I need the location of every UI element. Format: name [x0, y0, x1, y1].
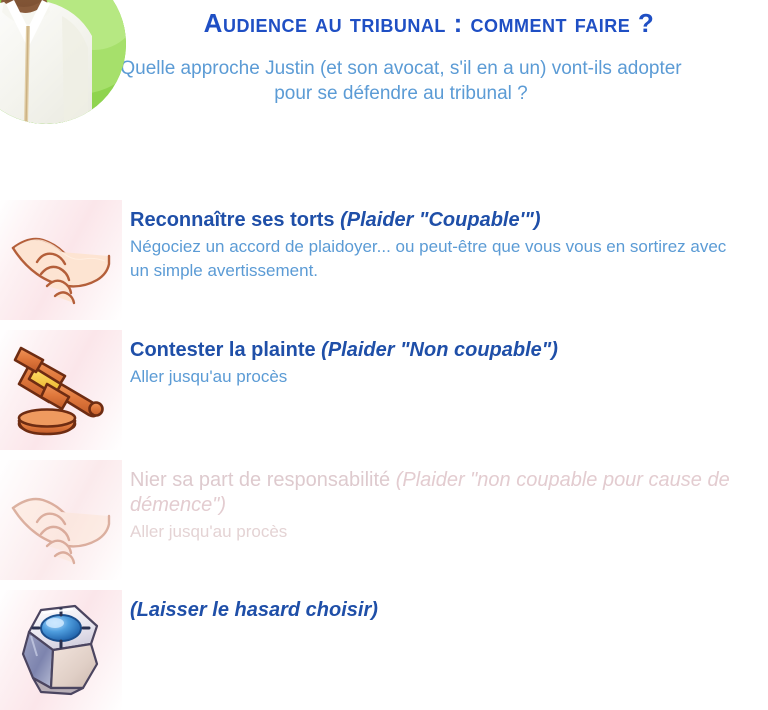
- option-heading: (Laisser le hasard choisir): [130, 598, 768, 623]
- option-row-plead-not-guilty[interactable]: Contester la plainte (Plaider "Non coupa…: [0, 330, 768, 450]
- option-row-random-choice[interactable]: (Laisser le hasard choisir): [0, 590, 768, 710]
- option-thumbnail: [0, 330, 122, 450]
- option-heading: Nier sa part de responsabilité (Plaider …: [130, 468, 768, 518]
- option-heading-paren: (Laisser le hasard choisir): [130, 599, 378, 621]
- option-description: Négociez un accord de plaidoyer... ou pe…: [130, 235, 730, 283]
- option-text-block: (Laisser le hasard choisir): [122, 590, 768, 625]
- gavel-icon: [9, 340, 113, 440]
- option-text-block: Reconnaître ses torts (Plaider "Coupable…: [122, 200, 768, 283]
- option-text-block: Contester la plainte (Plaider "Non coupa…: [122, 330, 768, 389]
- option-heading-paren: (Plaider "Non coupable"): [321, 339, 558, 361]
- option-text-block: Nier sa part de responsabilité (Plaider …: [122, 460, 768, 544]
- option-heading-main: Contester la plainte: [130, 339, 321, 361]
- dice-icon: [11, 600, 111, 700]
- option-thumbnail: [0, 200, 122, 320]
- handshake-icon: [7, 212, 115, 308]
- dialog-header: Audience au tribunal : comment faire ? Q…: [0, 0, 768, 196]
- option-description: Aller jusqu'au procès: [130, 520, 730, 544]
- option-heading-main: Nier sa part de responsabilité: [130, 469, 396, 491]
- option-thumbnail: [0, 590, 122, 710]
- option-row-plead-guilty[interactable]: Reconnaître ses torts (Plaider "Coupable…: [0, 200, 768, 320]
- option-heading-paren: (Plaider "Coupable'"): [340, 209, 540, 231]
- option-heading: Reconnaître ses torts (Plaider "Coupable…: [130, 208, 768, 233]
- option-description: Aller jusqu'au procès: [130, 365, 730, 389]
- option-list: Reconnaître ses torts (Plaider "Coupable…: [0, 200, 768, 710]
- handshake-icon: [7, 472, 115, 568]
- option-heading-main: Reconnaître ses torts: [130, 209, 340, 231]
- option-heading: Contester la plainte (Plaider "Non coupa…: [130, 338, 768, 363]
- option-row-insanity-plea: Nier sa part de responsabilité (Plaider …: [0, 460, 768, 580]
- option-thumbnail: [0, 460, 122, 580]
